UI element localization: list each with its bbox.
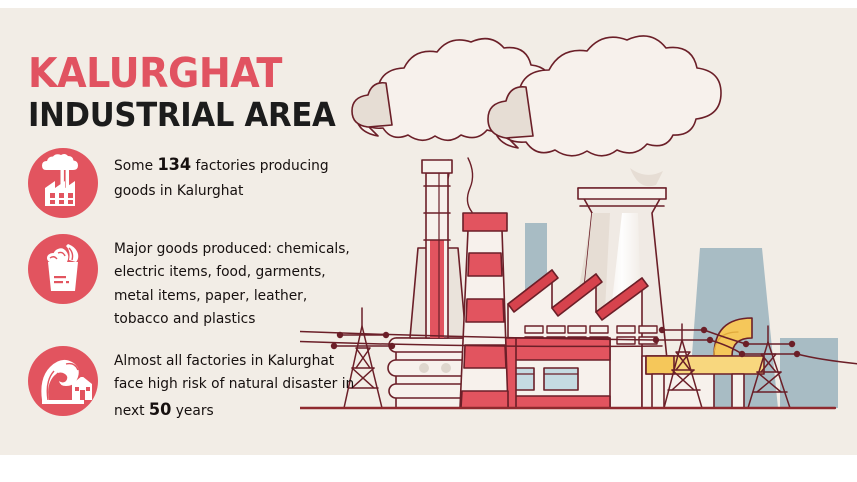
list-item-text: Some 134 factories producing goods in Ka… xyxy=(114,148,360,203)
industrial-plant-illustration xyxy=(300,8,857,455)
title-line-2: INDUSTRIAL AREA xyxy=(28,97,344,133)
list-item-text: Major goods produced: chemicals, electri… xyxy=(114,234,360,332)
list-item: Almost all factories in Kalurghat face h… xyxy=(28,346,373,425)
bullet-1-before: Some xyxy=(114,158,157,174)
title-line-1: KALURGHAT xyxy=(28,53,344,94)
bullet-1-highlight: 134 xyxy=(157,155,191,175)
bullet-3-after: years xyxy=(171,403,213,419)
bullet-3-highlight: 50 xyxy=(149,400,171,420)
factory-icon xyxy=(28,148,98,218)
bullet-2-text: Major goods produced: chemicals, electri… xyxy=(114,241,350,327)
list-item: Major goods produced: chemicals, electri… xyxy=(28,234,373,332)
list-item: Some 134 factories producing goods in Ka… xyxy=(28,148,373,220)
list-item-text: Almost all factories in Kalurghat face h… xyxy=(114,346,360,425)
thin-chimney xyxy=(410,160,466,338)
grocery-bag-icon xyxy=(28,234,98,304)
infographic-canvas: KALURGHAT INDUSTRIAL AREA xyxy=(0,8,857,455)
tsunami-house-icon xyxy=(28,346,98,416)
page-title: KALURGHAT INDUSTRIAL AREA xyxy=(28,53,368,133)
striped-chimney xyxy=(460,213,508,408)
bullet-list: Some 134 factories producing goods in Ka… xyxy=(28,148,373,438)
